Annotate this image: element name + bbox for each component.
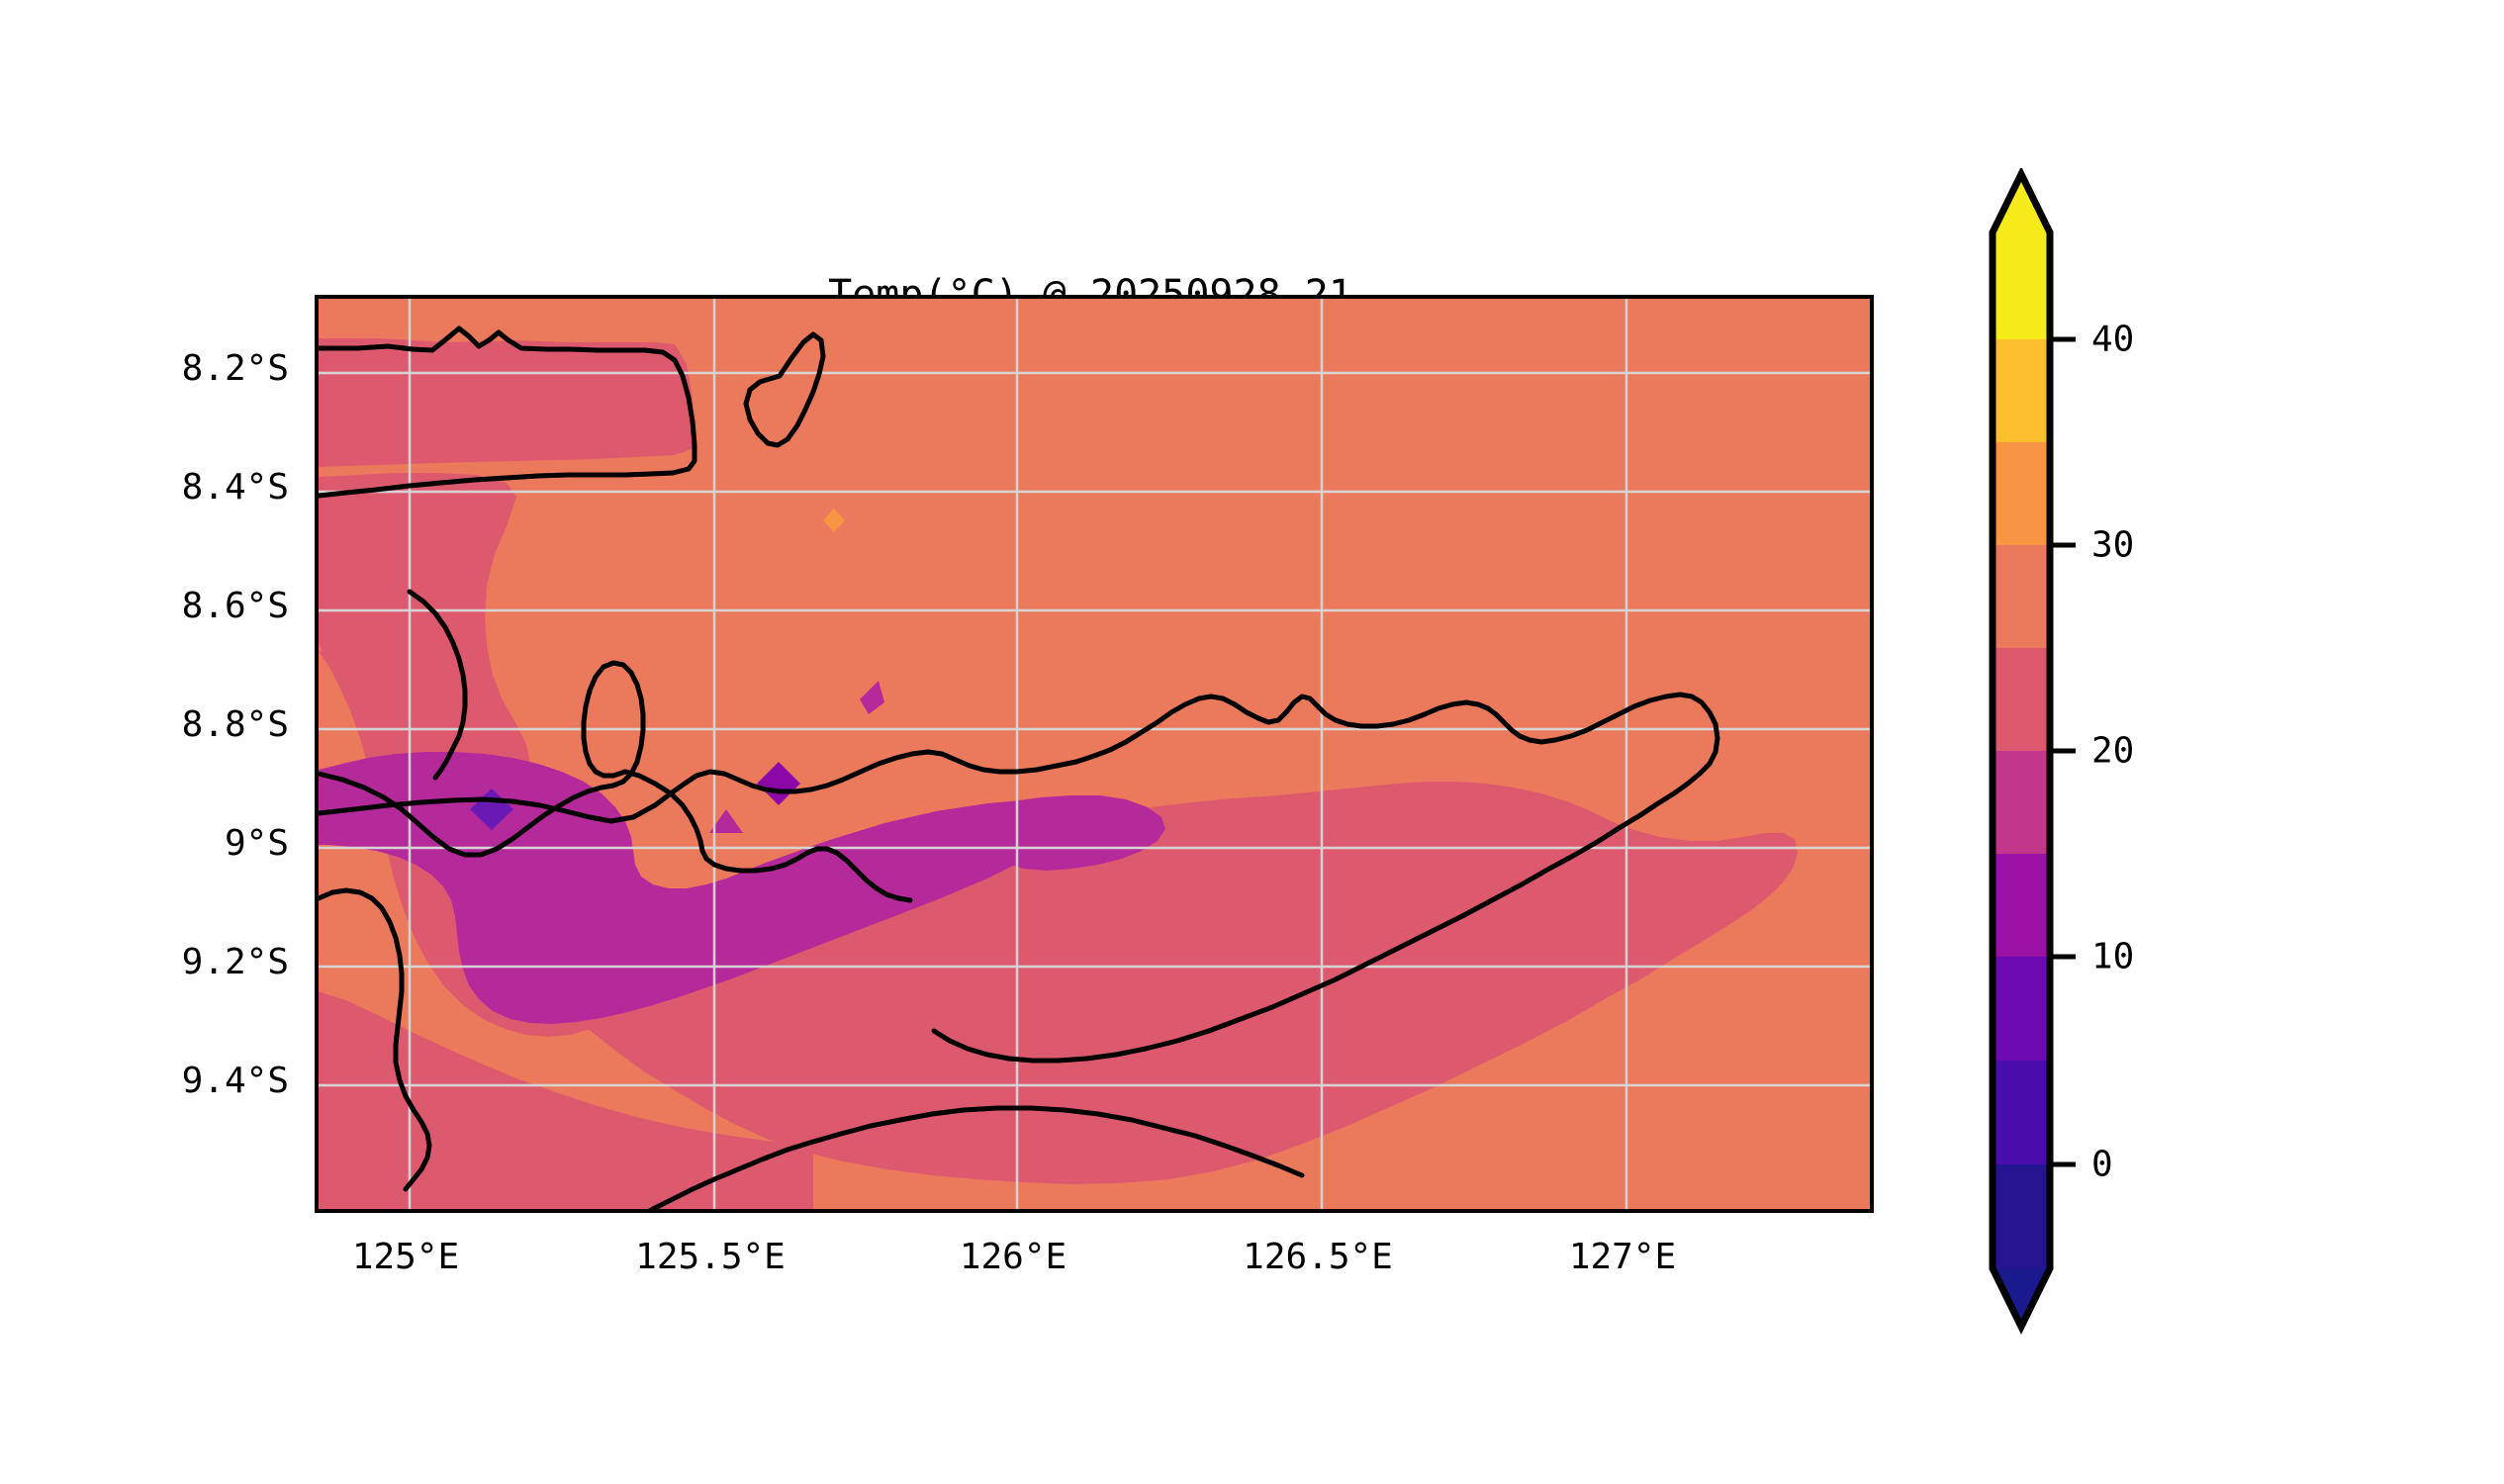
- xtick-label-126E: 126°E: [960, 1237, 1067, 1277]
- xtick-label-127E: 127°E: [1569, 1237, 1676, 1277]
- colorbar-ticks: [2050, 339, 2076, 1164]
- map-plot-area: [315, 295, 1874, 1213]
- ytick-label-9.2S: 9.2°S: [111, 942, 289, 982]
- xtick-label-126.5E: 126.5°E: [1243, 1237, 1393, 1277]
- figure-canvas: Temp(°C) @ 20250928_21 Simulation Time: …: [0, 0, 2504, 1484]
- ytick-label-8.4S: 8.4°S: [111, 467, 289, 508]
- colorbar-svg: [1973, 168, 2388, 1345]
- colorbar-label-0: 0: [2091, 1145, 2113, 1185]
- xtick-label-125E: 125°E: [352, 1237, 459, 1277]
- colorbar-label-20: 20: [2091, 731, 2134, 772]
- xtick-label-125.5E: 125.5°E: [635, 1237, 786, 1277]
- colorbar-label-30: 30: [2091, 525, 2134, 566]
- colorbar-label-10: 10: [2091, 937, 2134, 977]
- colorbar-extend-bottom: [1993, 1268, 2050, 1327]
- map-clip-region: [319, 299, 1870, 1209]
- colorbar-extend-top: [1993, 174, 2050, 232]
- colorbar: 40 30 20 10 0: [1973, 168, 2388, 1336]
- ytick-label-8.2S: 8.2°S: [111, 348, 289, 389]
- temperature-contour-map: [319, 299, 1870, 1209]
- ytick-label-8.8S: 8.8°S: [111, 704, 289, 745]
- ytick-label-9.4S: 9.4°S: [111, 1061, 289, 1101]
- ytick-label-9S: 9°S: [111, 823, 289, 864]
- colorbar-bands: [1993, 232, 2050, 1268]
- colorbar-label-40: 40: [2091, 320, 2134, 360]
- ytick-label-8.6S: 8.6°S: [111, 586, 289, 626]
